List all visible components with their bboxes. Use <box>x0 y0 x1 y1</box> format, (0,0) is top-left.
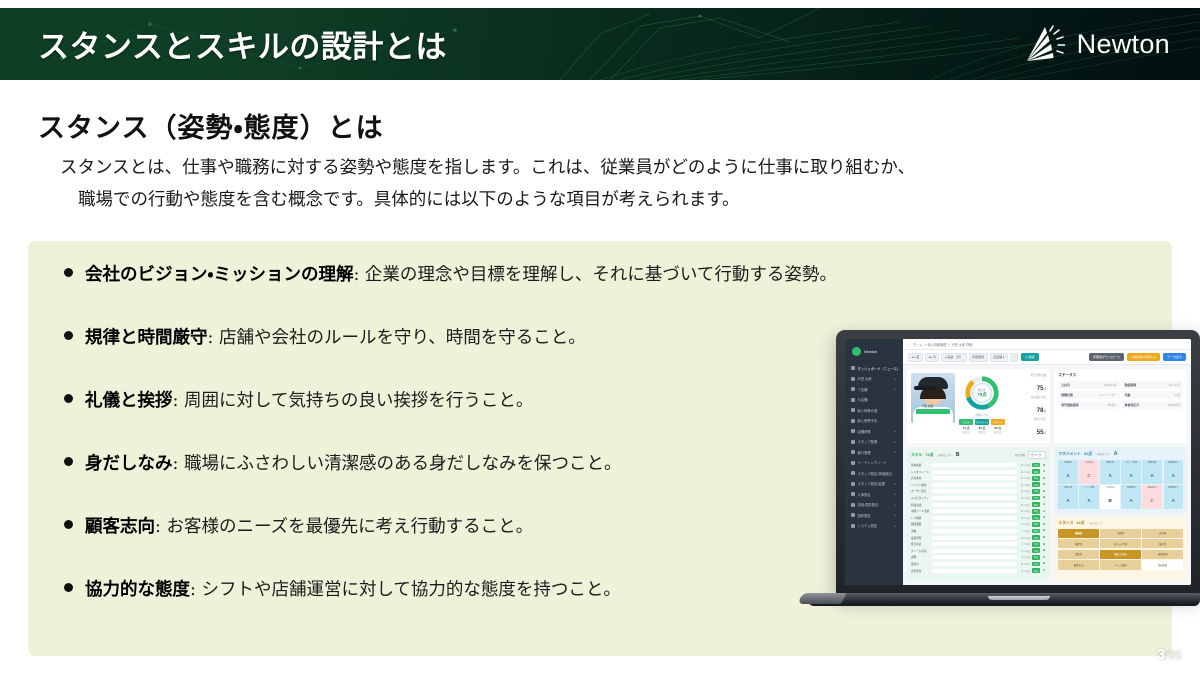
sidebar-item-label: ダッシュボード（ニュース） <box>858 366 900 371</box>
chevron-right-icon: ▸ <box>894 524 896 528</box>
skill-bar-row: オーダー受注11 / 14点70点B <box>911 488 1046 494</box>
status-card: ステータス 入社月2022年4月勤続期間4年 1ヶ月現職位階シフトリーダー年齢2… <box>1054 369 1187 443</box>
legend-item-stance: スタンス <box>991 419 1005 425</box>
management-cell-label: 育成指導 <box>1079 462 1098 464</box>
skill-grade: C <box>1042 569 1046 572</box>
sidebar-item-icon <box>851 524 855 528</box>
header-banner: スタンスとスキルの設計とは Newton <box>0 8 1200 80</box>
chevron-right-icon: ▸ <box>894 377 896 381</box>
score-donut-wrap: 総合点 75点 評価レベル スキル マネジメント スタンス <box>959 373 1005 434</box>
skill-value: 11 / 14点 <box>1019 489 1030 493</box>
sidebar-item[interactable]: 新人研修の道 <box>849 405 899 416</box>
status-key: 勤続期間 <box>1125 383 1137 387</box>
page-number-total: 95 <box>1169 648 1182 662</box>
skill-grade: A <box>1042 470 1046 473</box>
skill-bar-row: 安全衛生8 / 14点66点C <box>911 568 1046 574</box>
filter-chip[interactable]: ◂ ▸ 月 <box>925 353 940 362</box>
skill-badge: 74点 <box>1032 515 1040 520</box>
management-cell-grade: C <box>1087 473 1090 478</box>
newton-fan-logo-icon <box>1023 23 1067 65</box>
status-row: 年齢27歳 <box>1122 391 1183 399</box>
page-title: スタンス（姿勢・態度）とは <box>38 106 384 145</box>
skill-label: 盛付け <box>911 562 930 566</box>
sidebar-item[interactable]: 新人研修予定 <box>849 416 899 427</box>
sidebar-item-label: システム設定 <box>858 523 878 528</box>
management-cell-grade: A <box>1172 498 1175 503</box>
sidebar-item[interactable]: 戸田 太郎▸ <box>849 374 899 385</box>
sidebar-item[interactable]: スタッフ設定・評価追加 <box>849 468 899 479</box>
bullet-term: 顧客志向 <box>85 517 155 537</box>
skill-value: 9 / 14点 <box>1019 549 1030 553</box>
skill-value: 14 / 16点 <box>1019 476 1030 480</box>
print-download-button[interactable]: 印刷用ダウンロード <box>1089 353 1124 361</box>
sidebar-item-icon <box>851 513 855 517</box>
skill-value: 7 / 14点 <box>1019 529 1030 533</box>
management-cell-label: 原価管理 <box>1121 487 1140 489</box>
chevron-right-icon: ▸ <box>894 482 896 486</box>
management-sub: （前月比＋3） <box>1095 452 1111 456</box>
skill-bar-track <box>932 549 1017 553</box>
filter-chip[interactable]: 自店舗 ▾ <box>990 353 1008 362</box>
sidebar-item-label: スタッフ設定・評価追加 <box>858 471 892 476</box>
brand-logo: Newton <box>1023 23 1170 65</box>
skill-bar-row: 基本接客12 / 14点74点B <box>911 462 1046 468</box>
legend-item-skill: スキル <box>959 419 973 425</box>
skill-bar-row: クレーム対応9 / 14点76点B <box>911 548 1046 554</box>
sidebar-item-icon <box>851 429 855 433</box>
management-grade-cell[interactable]: 人材育成B <box>1100 485 1119 509</box>
management-cell-label: 問題解決力 <box>1164 487 1183 489</box>
skill-badge: 88点 <box>1032 509 1040 514</box>
skill-bar-row: 中間ツール活用13 / 16点88点A <box>911 508 1046 514</box>
chevron-right-icon: ▸ <box>894 440 896 444</box>
stance-cell[interactable]: 顧客志向 <box>1058 560 1099 569</box>
chevron-right-icon: ▸ <box>894 387 896 391</box>
skill-value: 8 / 14点 <box>1019 555 1030 559</box>
legend-sub-stance: （前月比） <box>991 430 1005 434</box>
sidebar-item-label: ミーティングノート <box>858 460 887 465</box>
skill-bar-row: 開閉業務9 / 14点69点B <box>911 521 1046 527</box>
filter-chip-group[interactable]: ◂ ▸ 週◂ ▸ 月◂ 実績 （月）評価期間自店舗 ▾↑ <box>908 353 1018 362</box>
management-header: マネジメント 82点 （前月比＋3） A <box>1058 451 1183 457</box>
list-item: 会社のビジョン・ミッションの理解: 企業の理念や目標を理解し、それに基づいて行動… <box>64 263 1124 326</box>
donut-center-value: 75点 <box>977 392 987 398</box>
skill-bar-track <box>932 536 1017 540</box>
skills-select-label: 表示切替 <box>1015 453 1025 457</box>
sidebar-item-icon <box>851 377 855 381</box>
avatar-rank-badge <box>916 409 950 414</box>
management-grade-cell[interactable]: シフト管理A <box>1079 485 1098 509</box>
dashboard-logo-text: Newton <box>864 350 877 354</box>
skill-badge: 74点 <box>1032 463 1040 468</box>
chevron-right-icon: ▸ <box>894 429 896 433</box>
sidebar-item-label: スタッフ設定・結果 <box>858 481 886 486</box>
status-value: 2件あり <box>1107 403 1116 407</box>
skill-grade: B <box>1042 523 1046 526</box>
skill-value: 10 / 14点 <box>1019 496 1030 500</box>
skill-bar-row: 店内案内14 / 16点80点B <box>911 475 1046 481</box>
stance-cell[interactable]: 向上心・学習 <box>1100 539 1141 548</box>
skills-rank-select[interactable]: 全ランク <box>1028 451 1046 459</box>
skill-bar-row: レジ精算11 / 14点74点A <box>911 515 1046 521</box>
kpi-label: 総合評価点数 <box>1011 373 1046 377</box>
donut-caption: 評価レベル <box>959 413 1005 417</box>
skills-title: スキル <box>911 453 922 458</box>
management-cell-grade: A <box>1130 498 1133 503</box>
filter-chip[interactable]: ◂ ▸ 週 <box>908 353 923 362</box>
skill-bar-row: 商品知識10 / 16点85点A <box>911 502 1046 508</box>
laptop-mockup: Newton ダッシュボード（ニュース）戸田 太郎▸Ｔ店舗▸Ｎ店舗新人研修の道新… <box>808 330 1200 630</box>
sidebar-item[interactable]: 人事設定▸ <box>849 489 899 500</box>
management-cell-label: 業績管理力 <box>1164 462 1183 464</box>
skill-bar-row: 盛付け11 / 16点72点B <box>911 561 1046 567</box>
skill-bar-track <box>932 489 1017 493</box>
management-cell-label: 情報共有 <box>1100 462 1119 464</box>
skill-label: 清掃 <box>911 529 930 533</box>
sidebar-item-icon <box>851 419 855 423</box>
skills-bar-list: 基本接客12 / 14点74点Bレジオペレーション11 / 14点68点A店内案… <box>911 462 1046 574</box>
skill-value: 10 / 16点 <box>1019 503 1030 507</box>
status-heading: ステータス <box>1058 373 1183 378</box>
status-value: 27歳 <box>1175 393 1180 397</box>
stance-cell[interactable]: 報・連・相 <box>1142 560 1183 569</box>
profile-card: 戸田 太郎 <box>907 369 1050 443</box>
filter-chip[interactable]: ◂ 実績 （月） <box>941 353 966 362</box>
status-key: 現職位階 <box>1061 393 1073 397</box>
stance-title: スタンス <box>1058 521 1073 526</box>
management-grade-cell[interactable]: 原価管理A <box>1121 485 1140 509</box>
skill-bar-track <box>932 555 1017 559</box>
management-grade-cell[interactable]: 問題解決力A <box>1164 485 1183 509</box>
skill-value: 8 / 14点 <box>1019 569 1030 573</box>
kpi-label: 全社平均点 <box>1011 417 1046 421</box>
sidebar-item-label: Ｎ店舗 <box>858 397 868 402</box>
sidebar-item-label: 戸田 太郎 <box>858 376 872 381</box>
kpi-group: 総合評価点数75点自店舗平均点78点全社平均点55点 <box>1009 373 1046 439</box>
sidebar-item[interactable]: 店舗研修▸ <box>849 426 899 437</box>
stance-cell[interactable]: 積極性 <box>1058 529 1099 538</box>
sidebar-item-icon <box>851 398 855 402</box>
bullet-term: 会社のビジョン・ミッションの理解 <box>85 265 353 285</box>
lead-line-1: スタンスとは、仕事や職務に対する姿勢や態度を指します。これは、従業員がどのように… <box>60 158 915 178</box>
management-cell-grade: A <box>1066 498 1069 503</box>
sidebar-item-label: 採用・表彰設定 <box>858 502 879 507</box>
status-key: 昇格判定月 <box>1125 403 1139 407</box>
management-grade-cell[interactable]: 目標設定A <box>1058 460 1077 484</box>
management-cell-label: 人材育成 <box>1100 487 1119 489</box>
status-value: シフトリーダー <box>1098 393 1116 397</box>
skill-value: 11 / 14点 <box>1019 516 1030 520</box>
skill-value: 12 / 14点 <box>1019 463 1030 467</box>
chevron-right-icon: ▸ <box>894 450 896 454</box>
skill-grade: B <box>1042 496 1046 499</box>
management-score: 82点 <box>1084 452 1092 457</box>
kpi-item: 総合評価点数75点 <box>1011 373 1046 395</box>
skill-badge: 66点 <box>1032 568 1040 573</box>
donut-center: 総合点 75点 <box>963 374 1001 412</box>
kpi-item: 全社平均点55点 <box>1011 417 1046 439</box>
skill-grade: B <box>1042 543 1046 546</box>
status-row: 昇格判定月2024年5月 <box>1122 401 1183 409</box>
skill-bar-track <box>932 483 1017 487</box>
skill-badge: 70点 <box>1032 489 1040 494</box>
skills-grade: B <box>956 452 960 458</box>
dashboard-body: 戸田 太郎 <box>903 365 1191 585</box>
sidebar-item[interactable]: 契約設定▸ <box>849 510 899 521</box>
search-button[interactable]: Q 検索 <box>1021 353 1038 361</box>
management-title: マネジメント <box>1058 452 1081 457</box>
dashboard-toolbar: ◂ ▸ 週◂ ▸ 月◂ 実績 （月）評価期間自店舗 ▾↑ Q 検索 印刷用ダウン… <box>903 350 1191 365</box>
bullet-dot-icon <box>64 394 73 403</box>
management-grade-cell[interactable]: 業績管理力A <box>1164 460 1183 484</box>
skill-label: 安全衛生 <box>911 569 930 573</box>
filter-chip[interactable]: ↑ <box>1010 353 1019 362</box>
status-grid: 入社月2022年4月勤続期間4年 1ヶ月現職位階シフトリーダー年齢27歳専門資格… <box>1058 381 1183 409</box>
avatar-name: 戸田 太郎 <box>922 404 933 408</box>
dashboard-logo: Newton <box>849 344 899 363</box>
dashboard-logo-icon <box>852 347 861 356</box>
stance-header: スタンス 82点 （前月比＋1） <box>1058 521 1183 526</box>
sidebar-item-icon <box>851 440 855 444</box>
management-cell-grade: A <box>1108 473 1111 478</box>
skill-label: 店内案内 <box>911 476 930 480</box>
sidebar-item-icon <box>851 450 855 454</box>
sidebar-item-label: スタッフ配置 <box>858 439 878 444</box>
management-grade: A <box>1114 451 1118 457</box>
skill-label: クレーム対応 <box>911 549 930 553</box>
bullet-desc: : 職場にふさわしい清潔感のある身だしなみを保つこと。 <box>173 454 622 474</box>
management-grade-cell[interactable]: 計画立案A <box>1058 485 1077 509</box>
donut-legend: スキル マネジメント スタンス <box>959 419 1005 425</box>
bullet-dot-icon <box>64 583 73 592</box>
skill-value: 12 / 14点 <box>1019 536 1030 540</box>
skill-grade: B <box>1042 562 1046 565</box>
skill-bar-track <box>932 470 1017 474</box>
management-grade-cell[interactable]: 情報共有A <box>1100 460 1119 484</box>
skill-label: 発注対応 <box>911 542 930 546</box>
sidebar-item-icon <box>851 387 855 391</box>
skill-badge: 78点 <box>1032 535 1040 540</box>
skill-badge: 60点 <box>1032 555 1040 560</box>
skill-badge: 71点 <box>1032 482 1040 487</box>
stance-cell[interactable]: 身だしなみ <box>1100 550 1141 559</box>
sidebar-item-icon <box>851 461 855 465</box>
skill-grade: B <box>1042 483 1046 486</box>
sidebar-item[interactable]: Ｎ店舗 <box>849 395 899 406</box>
kpi-unit: 点 <box>1043 409 1046 413</box>
stance-cell[interactable]: 誠実性 <box>1142 539 1183 548</box>
avatar-cap <box>918 377 948 389</box>
skill-bar-track <box>932 516 1017 520</box>
skill-badge: 76点 <box>1032 496 1040 501</box>
stance-cell[interactable]: 規律性 <box>1058 539 1099 548</box>
data-export-button[interactable]: データ出力 <box>1163 353 1186 361</box>
sidebar-item[interactable]: スタッフ配置▸ <box>849 437 899 448</box>
skill-badge: 72点 <box>1032 542 1040 547</box>
skill-badge: 76点 <box>1032 548 1040 553</box>
skills-sub: （前月比＋2） <box>936 453 952 457</box>
skill-bar-track <box>932 463 1017 467</box>
sidebar-item[interactable]: システム設定▸ <box>849 521 899 532</box>
sidebar-item[interactable]: ダッシュボード（ニュース） <box>849 363 899 374</box>
management-cell-grade: A <box>1172 473 1175 478</box>
laptop-base <box>808 593 1200 606</box>
skill-grade: A <box>1042 510 1046 513</box>
management-cell-grade: C <box>1151 498 1154 503</box>
management-cell-grade: A <box>1066 473 1069 478</box>
skill-label: ホスピタリティ <box>911 496 930 500</box>
chevron-right-icon: ▸ <box>894 513 896 517</box>
score-donut-chart: 総合点 75点 <box>963 374 1001 412</box>
lead-paragraph: スタンスとは、仕事や職務に対する姿勢や態度を指します。これは、従業員がどのように… <box>60 152 1160 217</box>
stance-cell[interactable]: 責任感 <box>1142 529 1183 538</box>
skills-header: スキル 74点 （前月比＋2） B 表示切替 全ランク <box>911 451 1046 459</box>
skill-label: 品質管理 <box>911 536 930 540</box>
bullet-term: 礼儀と挨拶 <box>85 391 173 411</box>
skill-grade: A <box>1042 503 1046 506</box>
status-row: 現職位階シフトリーダー <box>1058 391 1119 399</box>
lead-line-2: 職場での行動や態度を含む概念です。具体的には以下のような項目が考えられます。 <box>60 184 1160 216</box>
sidebar-item[interactable]: スタッフ設定・結果▸ <box>849 479 899 490</box>
stance-cell[interactable]: 協調性 <box>1100 529 1141 538</box>
skill-badge: 85点 <box>1032 502 1040 507</box>
skill-label: 基本接客 <box>911 463 930 467</box>
stance-cell[interactable]: 柔軟性 <box>1058 550 1099 559</box>
bullet-dot-icon <box>64 457 73 466</box>
breadcrumb: ⌂ ホーム ＞ 個人情報管理 ＞ 戸田 太郎 詳細 <box>903 339 1191 350</box>
sidebar-item[interactable]: 進行管理▸ <box>849 447 899 458</box>
bullet-dot-icon <box>64 331 73 340</box>
sidebar-item-icon <box>851 482 855 486</box>
skill-label: 中間ツール活用 <box>911 509 930 513</box>
management-grade-cell[interactable]: 育成指導C <box>1079 460 1098 484</box>
kpi-unit: 点 <box>1043 387 1046 391</box>
skill-label: 調理 <box>911 555 930 559</box>
sidebar-item-label: 契約設定 <box>858 513 871 518</box>
status-key: 入社月 <box>1061 383 1070 387</box>
home-icon: ⌂ <box>908 342 910 346</box>
status-key: 専門資格取得 <box>1061 403 1078 407</box>
skill-value: 11 / 16点 <box>1019 562 1030 566</box>
skills-score: 74点 <box>925 453 933 458</box>
bullet-term: 規律と時間厳守 <box>85 328 208 348</box>
dashboard-main: ⌂ ホーム ＞ 個人情報管理 ＞ 戸田 太郎 詳細 ◂ ▸ 週◂ ▸ 月◂ 実績… <box>903 339 1191 585</box>
legend-sub-management: （前月比） <box>975 430 989 434</box>
sidebar-item-label: 人事設定 <box>858 492 871 497</box>
skill-badge: 68点 <box>1032 469 1040 474</box>
skill-bar-track <box>932 509 1017 513</box>
management-cell-grade: A <box>1087 498 1090 503</box>
skill-bar-row: ホスピタリティ10 / 14点76点B <box>911 495 1046 501</box>
stance-table: 積極性協調性責任感規律性向上心・学習誠実性柔軟性身だしなみ接客姿勢顧客志向チーム… <box>1058 529 1183 570</box>
kpi-label: 自店舗平均点 <box>1011 395 1046 399</box>
laptop-base-foot <box>797 593 846 604</box>
skill-grade: B <box>1042 536 1046 539</box>
skill-badge: 80点 <box>1032 476 1040 481</box>
stance-sub: （前月比＋1） <box>1087 521 1103 525</box>
skill-label: レジオペレーション <box>911 470 930 474</box>
sidebar-item-label: 新人研修の道 <box>858 408 878 413</box>
skill-value: 13 / 16点 <box>1019 509 1030 513</box>
skill-label: ハンディ操作 <box>911 483 930 487</box>
legend-sub-skill: （前月比） <box>959 430 973 434</box>
chevron-right-icon: ▸ <box>894 492 896 496</box>
bullet-desc: : 周囲に対して気持ちの良い挨拶を行うこと。 <box>173 391 534 411</box>
management-cell-label: スタッフ管理 <box>1121 462 1140 464</box>
management-cell-label: 店舗運営力 <box>1142 487 1161 489</box>
legend-item-management: マネジメント <box>975 419 989 425</box>
bullet-term: 身だしなみ <box>85 454 173 474</box>
kpi-item: 自店舗平均点78点 <box>1011 395 1046 417</box>
edit-evaluation-button[interactable]: 社員情報・評価入力 <box>1127 353 1160 361</box>
skill-badge: 65点 <box>1032 529 1040 534</box>
bullet-desc: : 企業の理念や目標を理解し、それに基づいて行動する姿勢。 <box>353 265 836 285</box>
sidebar-item[interactable]: ミーティングノート <box>849 458 899 469</box>
status-row: 入社月2022年4月 <box>1058 381 1119 389</box>
management-cell-grade: A <box>1151 473 1154 478</box>
right-column: マネジメント 82点 （前月比＋3） A 目標設定A育成指導C情報共有Aスタッフ… <box>1054 447 1187 581</box>
stance-score: 82点 <box>1076 521 1084 526</box>
skill-bar-track <box>932 522 1017 526</box>
skill-value: 9 / 14点 <box>1019 522 1030 526</box>
sidebar-item-icon <box>851 503 855 507</box>
skill-bar-track <box>932 529 1017 533</box>
sidebar-item-icon <box>851 471 855 475</box>
skill-bar-track <box>932 542 1017 546</box>
status-value: 2024年5月 <box>1168 403 1180 407</box>
management-card: マネジメント 82点 （前月比＋3） A 目標設定A育成指導C情報共有Aスタッフ… <box>1054 447 1187 513</box>
page-header-title: スタンスとスキルの設計とは <box>38 22 447 67</box>
management-cell-label: 目標設定 <box>1058 462 1077 464</box>
management-cell-label: 計画立案 <box>1058 487 1077 489</box>
status-value: 2022年4月 <box>1104 383 1116 387</box>
avatar: 戸田 太郎 <box>911 373 955 423</box>
stance-cell[interactable]: チーム貢献 <box>1100 560 1141 569</box>
skill-label: オーダー受注 <box>911 489 930 493</box>
management-grade-grid: 目標設定A育成指導C情報共有Aスタッフ管理A業務改善A業績管理力A計画立案Aシフ… <box>1058 460 1183 509</box>
page-number: 3/95 <box>1157 646 1182 663</box>
kpi-unit: 点 <box>1043 431 1046 435</box>
sidebar-item[interactable]: 採用・表彰設定▸ <box>849 500 899 511</box>
management-cell-label: シフト管理 <box>1079 487 1098 489</box>
dashboard-sidebar: Newton ダッシュボード（ニュース）戸田 太郎▸Ｔ店舗▸Ｎ店舗新人研修の道新… <box>845 339 903 585</box>
management-grade-cell[interactable]: スタッフ管理A <box>1121 460 1140 484</box>
legend-subs: （前月比） （前月比） （前月比） <box>959 430 1005 434</box>
skill-bar-track <box>932 476 1017 480</box>
sidebar-item-label: 進行管理 <box>858 450 871 455</box>
skill-bar-row: 調理8 / 14点60点C <box>911 554 1046 560</box>
sidebar-item-label: 新人研修予定 <box>858 418 878 423</box>
skill-bar-row: 清掃7 / 14点65点B <box>911 528 1046 534</box>
bullet-term: 協力的な態度 <box>85 580 190 600</box>
status-row: 勤続期間4年 1ヶ月 <box>1122 381 1183 389</box>
management-cell-grade: A <box>1130 473 1133 478</box>
management-grade-cell[interactable]: 店舗運営力C <box>1142 485 1161 509</box>
stance-cell[interactable]: 接客姿勢 <box>1142 550 1183 559</box>
stance-card: スタンス 82点 （前月比＋1） 積極性協調性責任感規律性向上心・学習誠実性柔軟… <box>1054 517 1187 581</box>
status-key: 年齢 <box>1125 393 1131 397</box>
skill-bar-row: 発注対応7 / 16点72点B <box>911 541 1046 547</box>
sidebar-item[interactable]: Ｔ店舗▸ <box>849 384 899 395</box>
skill-bar-track <box>932 496 1017 500</box>
laptop-screen: Newton ダッシュボード（ニュース）戸田 太郎▸Ｔ店舗▸Ｎ店舗新人研修の道新… <box>845 339 1191 585</box>
skill-bar-track <box>932 503 1017 507</box>
filter-chip[interactable]: 評価期間 <box>969 353 988 362</box>
management-grade-cell[interactable]: 業務改善A <box>1142 460 1161 484</box>
status-value: 4年 1ヶ月 <box>1169 383 1180 387</box>
laptop-lid: Newton ダッシュボード（ニュース）戸田 太郎▸Ｔ店舗▸Ｎ店舗新人研修の道新… <box>836 330 1200 596</box>
breadcrumb-text: ホーム ＞ 個人情報管理 ＞ 戸田 太郎 詳細 <box>913 342 972 347</box>
